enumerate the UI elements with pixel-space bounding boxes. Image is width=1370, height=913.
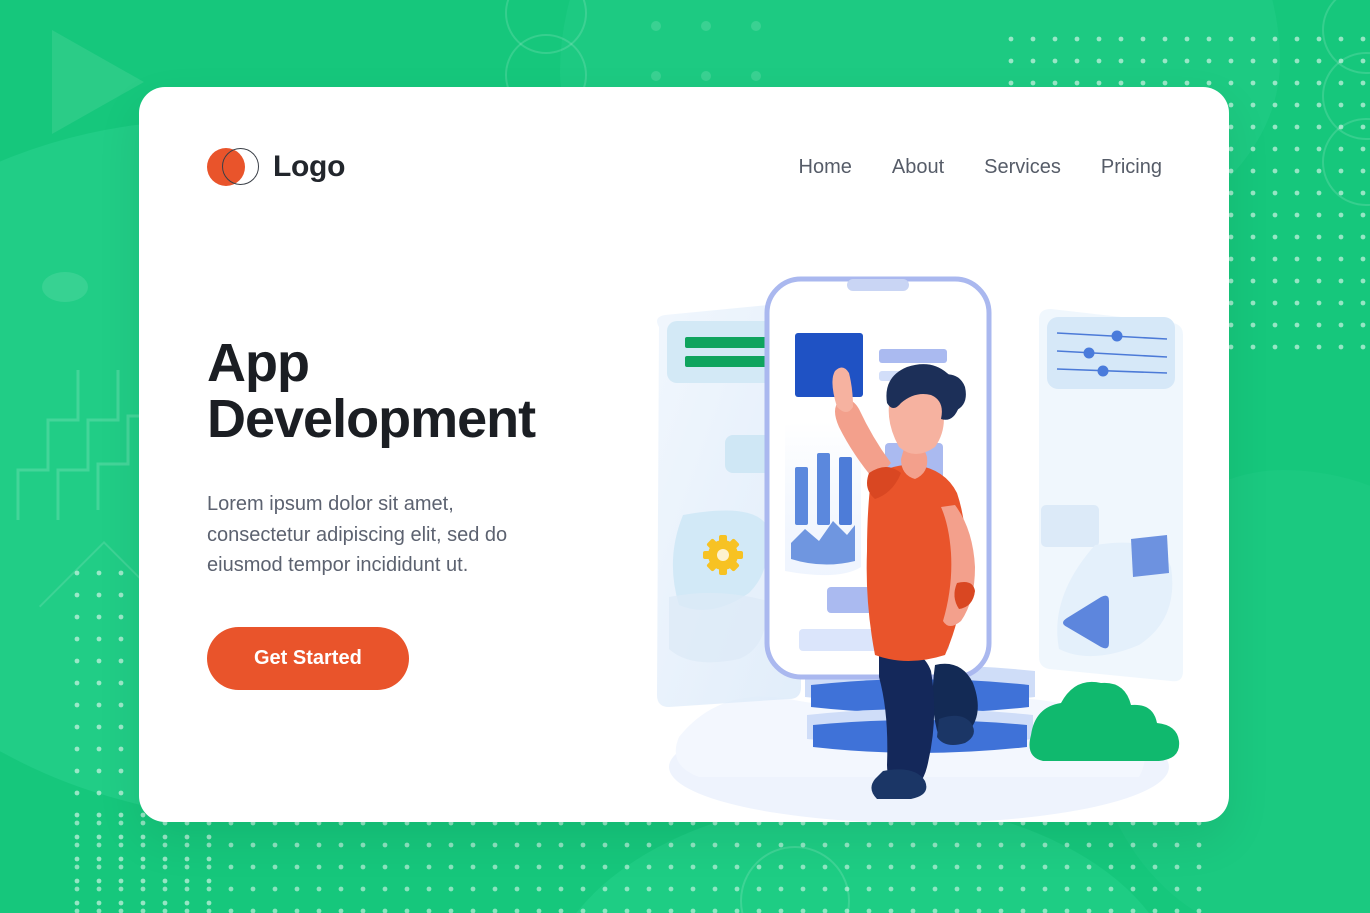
landing-page: Logo Home About Services Pricing App Dev… xyxy=(0,0,1370,913)
decor-dot-grid-bottom xyxy=(74,820,1214,913)
green-bush xyxy=(1030,682,1180,761)
brand-logo[interactable]: Logo xyxy=(207,148,345,186)
nav-item-services[interactable]: Services xyxy=(984,156,1061,179)
site-header: Logo Home About Services Pricing xyxy=(139,87,1229,247)
phone-notch xyxy=(847,279,909,291)
right-panel xyxy=(1039,309,1183,681)
brand-name: Logo xyxy=(273,150,345,184)
main-navigation: Home About Services Pricing xyxy=(799,156,1162,179)
decor-circle xyxy=(42,272,88,302)
green-bar xyxy=(685,356,769,367)
decor-ring xyxy=(1322,0,1370,74)
slider-handle xyxy=(1084,348,1095,359)
decor-ring xyxy=(1322,118,1370,206)
decor-ring xyxy=(505,0,587,54)
right-panel-chip xyxy=(1041,505,1099,547)
nav-item-about[interactable]: About xyxy=(892,156,944,179)
decor-ring xyxy=(1322,52,1370,140)
page-title: App Development xyxy=(207,335,607,447)
get-started-button[interactable]: Get Started xyxy=(207,627,409,690)
slider-handle xyxy=(1112,331,1123,342)
hero-paragraph: Lorem ipsum dolor sit amet, consectetur … xyxy=(207,489,537,580)
bar-chart-bar xyxy=(839,457,852,525)
phone-thumbnail xyxy=(795,333,863,397)
green-bar xyxy=(685,337,769,348)
decor-triangle-solid xyxy=(52,30,144,134)
two-circles-logo-icon xyxy=(207,148,260,186)
hero-card: Logo Home About Services Pricing App Dev… xyxy=(139,87,1229,822)
bar-chart-bar xyxy=(817,453,830,525)
nav-item-pricing[interactable]: Pricing xyxy=(1101,156,1162,179)
nav-item-home[interactable]: Home xyxy=(799,156,852,179)
decor-ring xyxy=(740,846,850,913)
person-front-leg xyxy=(879,648,934,789)
app-development-illustration xyxy=(639,267,1199,822)
hero-copy: App Development Lorem ipsum dolor sit am… xyxy=(207,335,607,690)
right-panel-parallelogram xyxy=(1131,535,1169,577)
slider-handle xyxy=(1098,366,1109,377)
slider-settings-card xyxy=(1047,317,1175,389)
phone-text-line xyxy=(879,349,947,363)
bar-chart-bar xyxy=(795,467,808,525)
